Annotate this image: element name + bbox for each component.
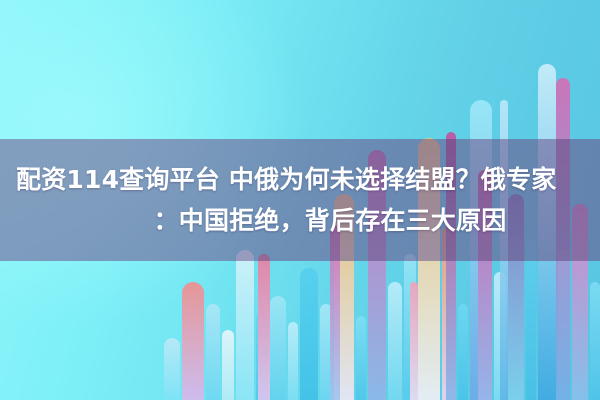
chart-bar xyxy=(410,282,418,400)
chart-bar xyxy=(356,316,366,400)
banner-image: 配资114查询平台 中俄为何未选择结盟？俄专家 ：中国拒绝，背后存在三大原因 xyxy=(0,0,600,400)
chart-bar xyxy=(236,250,254,400)
chart-bar xyxy=(300,268,318,400)
chart-bar xyxy=(258,254,270,400)
chart-bar xyxy=(526,240,536,400)
caption-line-1: 配资114查询平台 中俄为何未选择结盟？俄专家 xyxy=(16,159,557,200)
chart-bar xyxy=(388,282,402,400)
chart-bar xyxy=(270,296,286,400)
chart-bar xyxy=(182,282,204,400)
chart-bar xyxy=(222,330,234,400)
chart-bar xyxy=(164,338,180,400)
chart-bar xyxy=(206,304,220,400)
caption-block: 配资114查询平台 中俄为何未选择结盟？俄专家 ：中国拒绝，背后存在三大原因 xyxy=(0,139,600,261)
chart-bar xyxy=(288,322,298,400)
caption-line-2: ：中国拒绝，背后存在三大原因 xyxy=(154,200,507,241)
chart-bar xyxy=(590,282,600,400)
chart-bar xyxy=(458,304,468,400)
